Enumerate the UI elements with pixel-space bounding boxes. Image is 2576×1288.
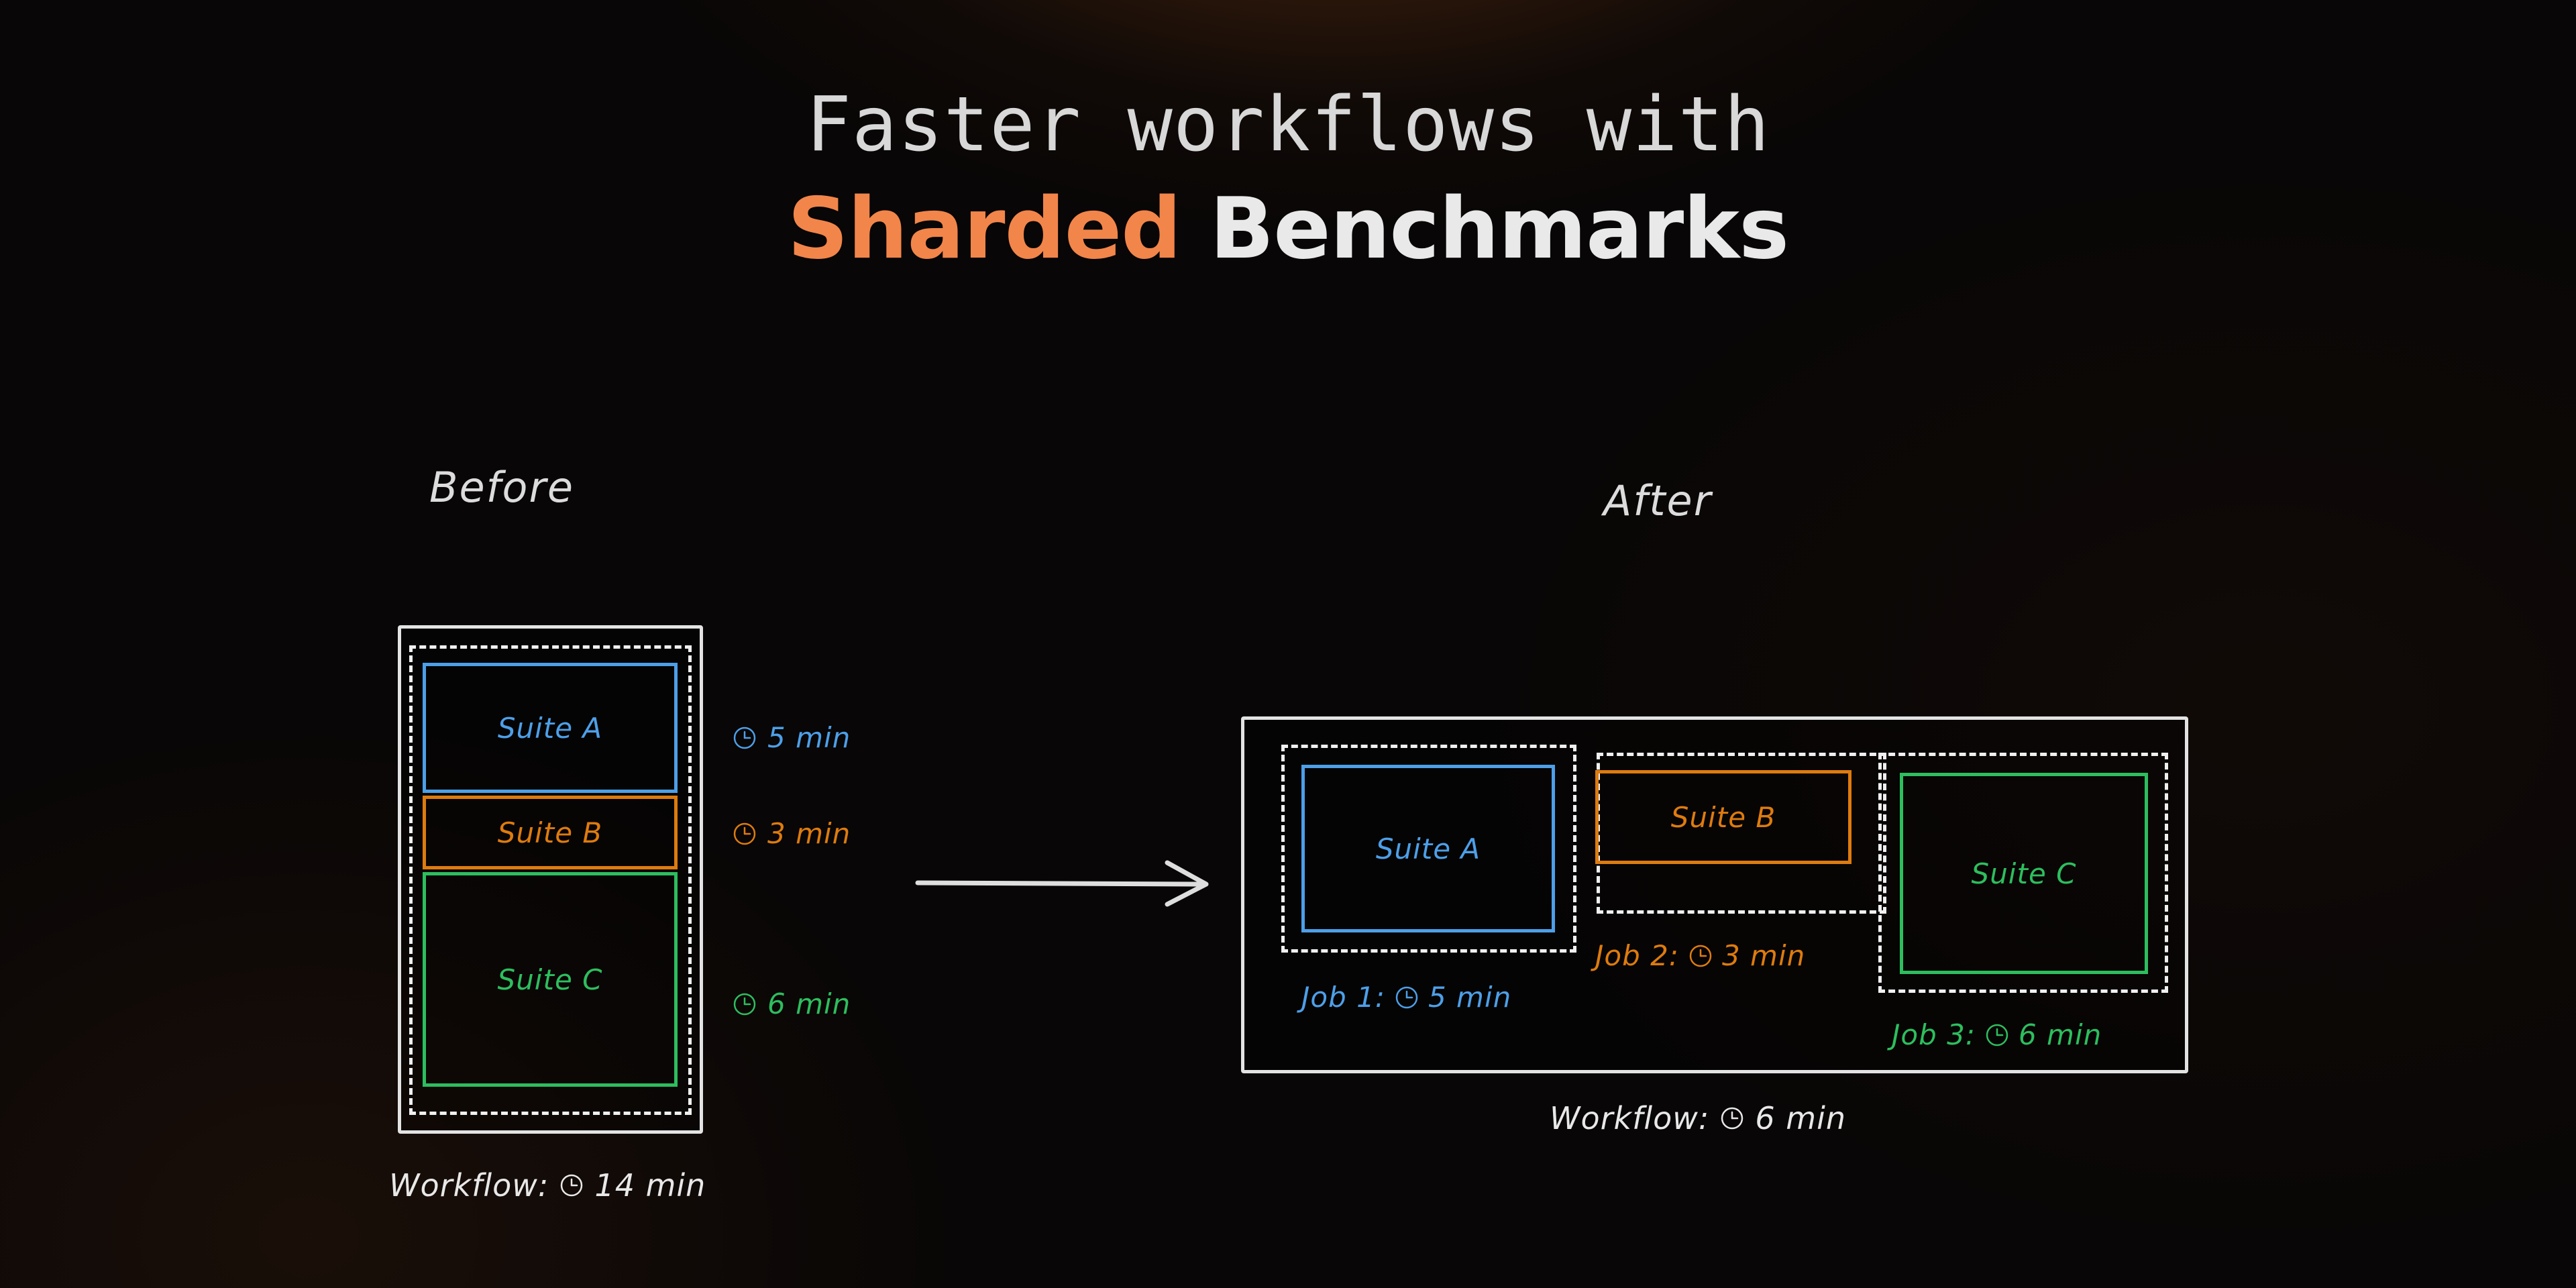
- before-suite-time-c: 6 min: [731, 987, 851, 1020]
- after-suite-label-a: Suite A: [1376, 833, 1481, 865]
- after-job-prefix-2: Job 2:: [1595, 939, 1679, 972]
- before-suite-box-b: Suite B: [423, 796, 678, 869]
- before-suite-label-c: Suite C: [498, 963, 603, 996]
- after-suite-box-c: Suite C: [1900, 773, 2148, 974]
- title-line-2: Sharded Benchmarks: [0, 186, 2576, 271]
- before-suite-label-b: Suite B: [498, 816, 602, 849]
- clock-icon: [731, 820, 758, 847]
- right-arrow-icon: [912, 851, 1221, 918]
- after-job-label-3: Job 3: 6 min: [1892, 1018, 2102, 1051]
- before-suite-time-text-a: 5 min: [767, 721, 851, 754]
- before-suite-box-a: Suite A: [423, 663, 678, 793]
- before-heading: Before: [429, 463, 574, 512]
- clock-icon: [1984, 1022, 2010, 1049]
- before-workflow-prefix: Workflow:: [389, 1167, 549, 1203]
- before-suite-time-b: 3 min: [731, 817, 851, 850]
- title-accent-word: Sharded: [788, 179, 1181, 278]
- after-job-time-2: 3 min: [1722, 939, 1805, 972]
- before-suite-label-a: Suite A: [498, 712, 602, 745]
- after-suite-label-c: Suite C: [1972, 857, 2077, 890]
- before-workflow-time: 14 min: [594, 1167, 706, 1203]
- clock-icon: [558, 1172, 585, 1199]
- title-rest-word: Benchmarks: [1181, 179, 1788, 278]
- after-suite-box-b: Suite B: [1595, 770, 1851, 864]
- before-suite-time-text-c: 6 min: [767, 987, 851, 1020]
- clock-icon: [731, 724, 758, 751]
- clock-icon: [1687, 943, 1714, 969]
- after-job-time-1: 5 min: [1428, 981, 1511, 1014]
- before-suite-box-c: Suite C: [423, 872, 678, 1087]
- after-workflow-time: 6 min: [1755, 1100, 1846, 1136]
- after-heading: After: [1603, 476, 1712, 525]
- before-suite-time-a: 5 min: [731, 721, 851, 754]
- clock-icon: [1719, 1105, 1746, 1132]
- after-job-time-3: 6 min: [2019, 1018, 2102, 1051]
- after-suite-label-b: Suite B: [1671, 801, 1776, 834]
- after-workflow-prefix: Workflow:: [1550, 1100, 1709, 1136]
- page-title: Faster workflows with Sharded Benchmarks: [0, 87, 2576, 271]
- clock-icon: [731, 991, 758, 1018]
- before-workflow-total: Workflow: 14 min: [389, 1167, 706, 1203]
- clock-icon: [1393, 984, 1420, 1011]
- after-job-label-1: Job 1: 5 min: [1301, 981, 1511, 1014]
- after-job-label-2: Job 2: 3 min: [1595, 939, 1805, 972]
- after-job-prefix-1: Job 1:: [1301, 981, 1385, 1014]
- before-suite-time-text-b: 3 min: [767, 817, 851, 850]
- title-line-1: Faster workflows with: [0, 87, 2576, 162]
- after-job-prefix-3: Job 3:: [1892, 1018, 1976, 1051]
- after-workflow-total: Workflow: 6 min: [1550, 1100, 1846, 1136]
- slide-canvas: Faster workflows with Sharded Benchmarks…: [0, 0, 2576, 1288]
- after-suite-box-a: Suite A: [1301, 765, 1555, 932]
